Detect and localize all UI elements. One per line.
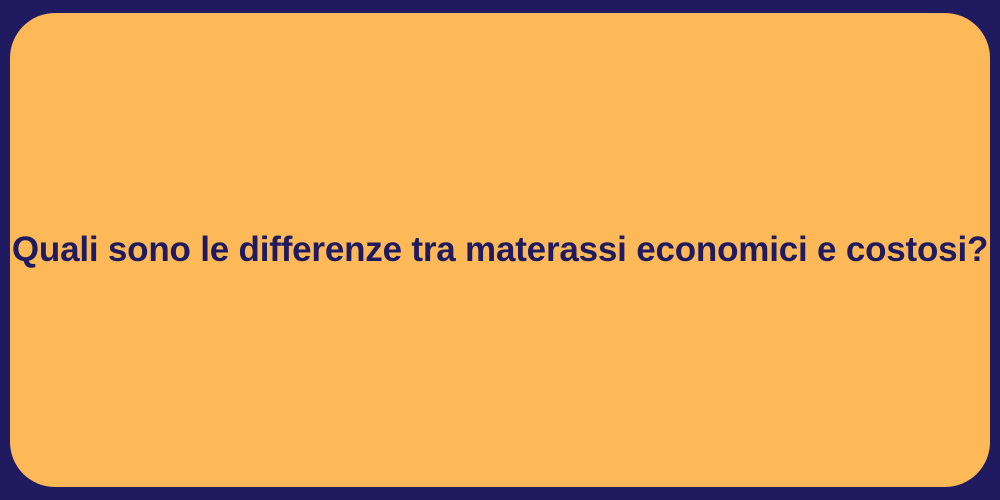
question-card-panel: Quali sono le differenze tra materassi e… xyxy=(10,13,990,487)
question-card-frame: Quali sono le differenze tra materassi e… xyxy=(0,0,1000,500)
question-heading: Quali sono le differenze tra materassi e… xyxy=(12,228,988,272)
